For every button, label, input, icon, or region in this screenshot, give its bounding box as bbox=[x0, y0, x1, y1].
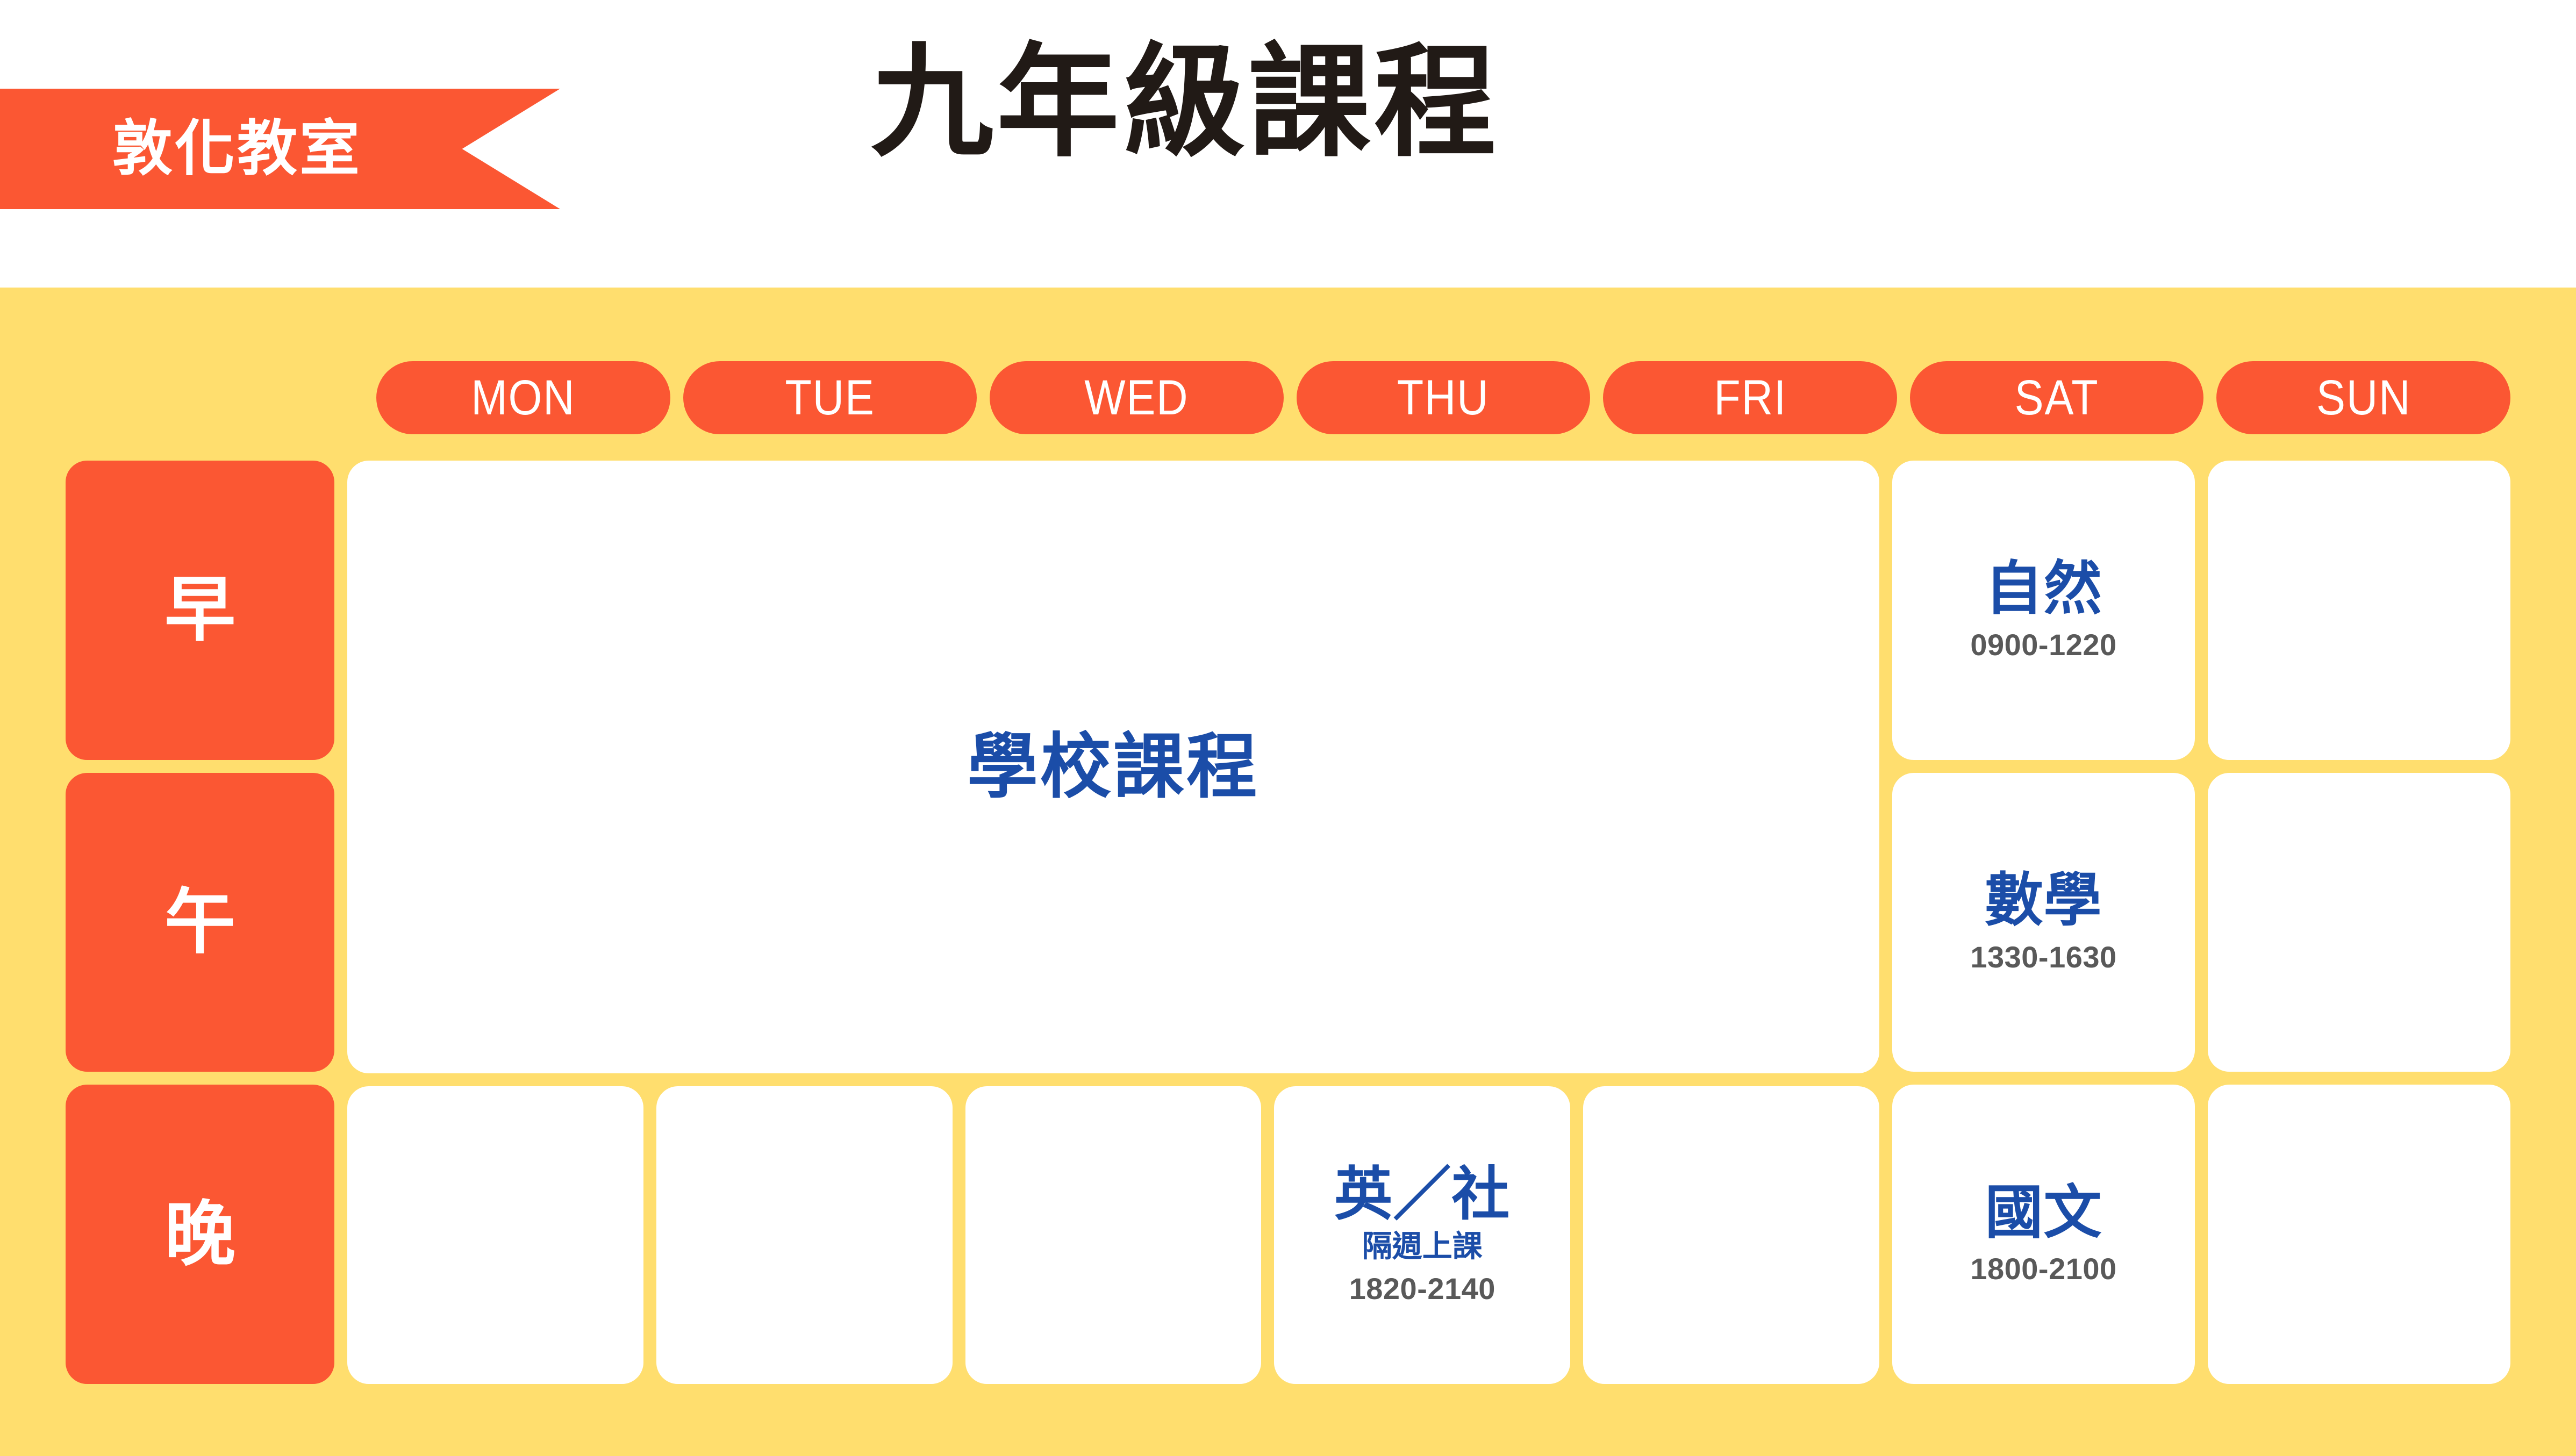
cell-thu-evening-note: 隔週上課 bbox=[1362, 1228, 1483, 1264]
cell-sat-afternoon-subject: 數學 bbox=[1985, 870, 2102, 931]
cell-sun-morning[interactable] bbox=[2208, 461, 2510, 760]
weekday-block-mon-fri: 學校課程 bbox=[347, 461, 1879, 1384]
period-label-column: 早 午 晚 bbox=[66, 461, 334, 1384]
page-header: 敦化教室 九年級課程 bbox=[0, 0, 2576, 288]
day-header-tue-label: TUE bbox=[785, 373, 875, 422]
period-label-evening-text: 晚 bbox=[164, 1199, 235, 1270]
cell-tue-evening[interactable] bbox=[656, 1086, 953, 1384]
day-header-wed[interactable]: WED bbox=[990, 361, 1284, 434]
branch-badge-ribbon: 敦化教室 bbox=[0, 89, 560, 209]
day-header-tue[interactable]: TUE bbox=[683, 361, 977, 434]
cell-sun-evening[interactable] bbox=[2208, 1085, 2510, 1384]
schedule-grid: 早 午 晚 學校課程 bbox=[66, 461, 2510, 1384]
schedule-page: 敦化教室 九年級課程 MON TUE WED THU FRI SAT bbox=[0, 0, 2576, 1456]
day-header-mon-label: MON bbox=[471, 373, 575, 422]
cell-thu-evening-time: 1820-2140 bbox=[1349, 1271, 1495, 1307]
day-header-fri[interactable]: FRI bbox=[1603, 361, 1897, 434]
cell-sat-afternoon-time: 1330-1630 bbox=[1970, 939, 2116, 975]
day-header-sun[interactable]: SUN bbox=[2216, 361, 2510, 434]
day-header-sat[interactable]: SAT bbox=[1910, 361, 2204, 434]
period-label-morning-text: 早 bbox=[164, 575, 235, 645]
cell-fri-evening[interactable] bbox=[1583, 1086, 1879, 1384]
day-header-sat-label: SAT bbox=[2015, 373, 2099, 422]
cell-sat-morning-subject: 自然 bbox=[1985, 558, 2102, 619]
school-curriculum-label: 學校課程 bbox=[967, 731, 1260, 802]
period-label-afternoon[interactable]: 午 bbox=[66, 773, 334, 1072]
cell-sat-evening-time: 1800-2100 bbox=[1970, 1251, 2116, 1287]
day-header-thu[interactable]: THU bbox=[1297, 361, 1591, 434]
day-header-wed-label: WED bbox=[1084, 373, 1189, 422]
day-columns-area: 學校課程 bbox=[347, 461, 2510, 1384]
school-curriculum-card[interactable]: 學校課程 bbox=[347, 461, 1879, 1073]
day-header-fri-label: FRI bbox=[1714, 373, 1787, 422]
cell-sat-evening[interactable]: 國文 1800-2100 bbox=[1892, 1085, 2195, 1384]
day-column-sat: 自然 0900-1220 數學 1330-1630 國文 1800-2100 bbox=[1892, 461, 2195, 1384]
day-column-sun bbox=[2208, 461, 2510, 1384]
evening-row-mon-fri: 英／社 隔週上課 1820-2140 bbox=[347, 1086, 1879, 1384]
cell-thu-evening-subject: 英／社 bbox=[1334, 1164, 1510, 1225]
cell-wed-evening[interactable] bbox=[965, 1086, 1262, 1384]
branch-badge-label: 敦化教室 bbox=[112, 119, 362, 179]
page-title: 九年級課程 bbox=[871, 32, 1500, 173]
day-header-mon[interactable]: MON bbox=[376, 361, 670, 434]
day-header-row: MON TUE WED THU FRI SAT SUN bbox=[376, 361, 2510, 434]
day-header-thu-label: THU bbox=[1397, 373, 1490, 422]
cell-sat-evening-subject: 國文 bbox=[1985, 1182, 2102, 1243]
cell-sat-morning-time: 0900-1220 bbox=[1970, 627, 2116, 663]
cell-mon-evening[interactable] bbox=[347, 1086, 643, 1384]
cell-sun-afternoon[interactable] bbox=[2208, 773, 2510, 1072]
period-label-evening[interactable]: 晚 bbox=[66, 1085, 334, 1384]
cell-thu-evening[interactable]: 英／社 隔週上課 1820-2140 bbox=[1274, 1086, 1570, 1384]
schedule-panel: MON TUE WED THU FRI SAT SUN bbox=[0, 288, 2576, 1456]
period-label-morning[interactable]: 早 bbox=[66, 461, 334, 760]
day-header-sun-label: SUN bbox=[2316, 373, 2411, 422]
cell-sat-afternoon[interactable]: 數學 1330-1630 bbox=[1892, 773, 2195, 1072]
cell-sat-morning[interactable]: 自然 0900-1220 bbox=[1892, 461, 2195, 760]
period-label-afternoon-text: 午 bbox=[164, 887, 235, 958]
